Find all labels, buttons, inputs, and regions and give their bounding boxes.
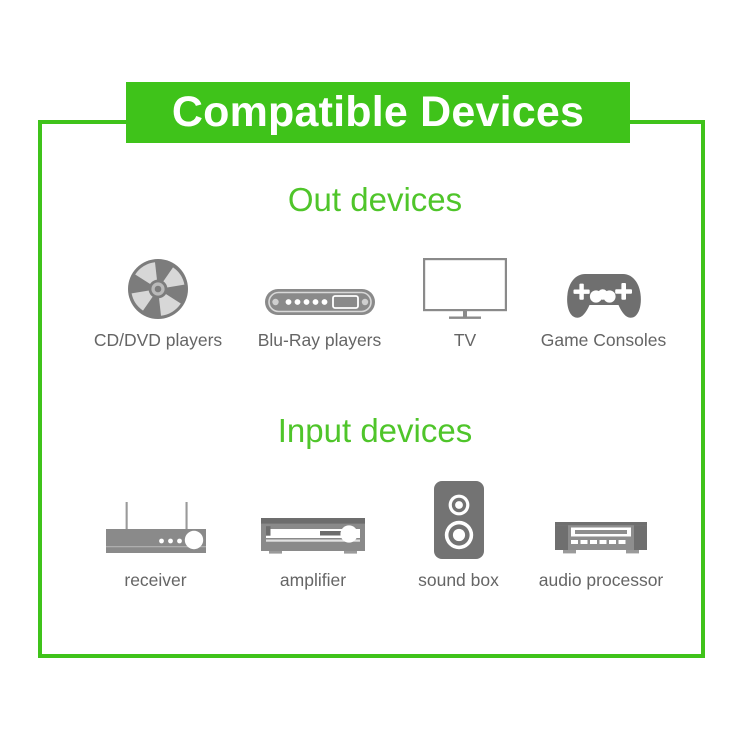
section-heading-out-devices: Out devices bbox=[0, 183, 750, 216]
device-cd-dvd-players: CD/DVD players bbox=[78, 248, 238, 350]
device-game-consoles: Game Consoles bbox=[529, 248, 678, 350]
device-label: CD/DVD players bbox=[94, 331, 222, 350]
bluray-player-icon bbox=[264, 248, 376, 320]
television-icon bbox=[423, 248, 507, 320]
input-devices-row: receiver amplifier bbox=[78, 480, 678, 590]
compact-disc-icon bbox=[127, 248, 189, 320]
device-tv: TV bbox=[401, 248, 529, 350]
device-bluray-players: Blu-Ray players bbox=[238, 248, 401, 350]
speaker-icon bbox=[432, 480, 486, 560]
compatible-devices-poster: Compatible Devices Out devices CD/DVD pl… bbox=[0, 0, 750, 750]
device-amplifier: amplifier bbox=[233, 480, 393, 590]
av-receiver-icon bbox=[100, 480, 212, 560]
title-banner: Compatible Devices bbox=[126, 82, 630, 143]
device-label: receiver bbox=[124, 571, 186, 590]
device-label: Blu-Ray players bbox=[258, 331, 382, 350]
device-label: TV bbox=[454, 331, 476, 350]
device-receiver: receiver bbox=[78, 480, 233, 590]
gamepad-icon bbox=[565, 248, 643, 320]
page-title: Compatible Devices bbox=[172, 91, 584, 134]
device-label: Game Consoles bbox=[541, 331, 666, 350]
amplifier-icon bbox=[257, 480, 369, 560]
device-sound-box: sound box bbox=[393, 480, 524, 590]
device-label: audio processor bbox=[539, 571, 664, 590]
device-label: amplifier bbox=[280, 571, 346, 590]
out-devices-row: CD/DVD players Blu-Ray players bbox=[78, 248, 678, 350]
audio-processor-icon bbox=[552, 480, 650, 560]
device-audio-processor: audio processor bbox=[524, 480, 678, 590]
section-heading-input-devices: Input devices bbox=[0, 414, 750, 447]
device-label: sound box bbox=[418, 571, 499, 590]
